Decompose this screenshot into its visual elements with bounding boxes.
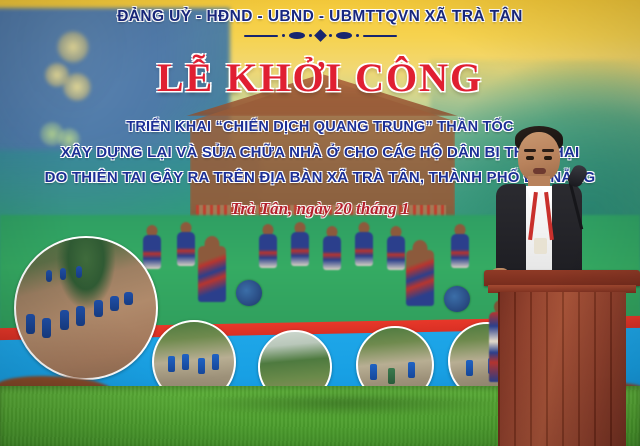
photo-figure xyxy=(42,318,51,338)
podium-front-panel xyxy=(498,292,626,446)
photo-figure xyxy=(466,360,473,376)
photo-figure xyxy=(110,296,119,311)
photo-figure xyxy=(168,356,175,372)
speaker-eyebrow xyxy=(542,149,554,152)
photo-figure xyxy=(94,300,103,317)
photo-stage: ĐẢNG UỶ - HĐND - UBND - UBMTTQVN XÃ TRÀ … xyxy=(0,0,640,446)
speaker-vest xyxy=(496,184,526,280)
speaker-eye xyxy=(544,156,552,160)
dancer-body xyxy=(451,234,469,268)
speaker-mouth xyxy=(533,168,546,174)
divider-bar xyxy=(363,35,397,37)
photo-figure xyxy=(408,362,415,378)
wooden-podium xyxy=(484,270,640,446)
photo-figure xyxy=(26,314,35,334)
divider-dot xyxy=(282,34,285,37)
speaker-head xyxy=(518,132,560,182)
dancer-body xyxy=(355,232,373,266)
speaker-vest xyxy=(552,184,582,280)
divider-diamond xyxy=(314,29,327,42)
photo-figure xyxy=(124,292,133,305)
photo-figure xyxy=(198,358,205,374)
podium-top-surface xyxy=(484,270,640,286)
podium-floor-shadow xyxy=(180,390,510,416)
dancer-gong xyxy=(444,286,470,312)
speaker-eyebrow xyxy=(524,149,536,152)
dancer-body xyxy=(177,232,195,266)
photo-figure xyxy=(46,270,52,282)
photo-figure xyxy=(60,310,69,330)
divider-dot xyxy=(309,34,312,37)
speaker-name-badge xyxy=(534,238,547,254)
dancer-gong xyxy=(236,280,262,306)
dancer-body xyxy=(259,234,277,268)
divider-dot xyxy=(329,34,332,37)
photo-figure xyxy=(76,266,82,278)
dancer-body xyxy=(406,250,434,306)
banner-main-title: LỄ KHỞI CÔNG xyxy=(0,54,640,101)
ornamental-divider xyxy=(0,31,640,40)
divider-dot xyxy=(356,34,359,37)
banner-organization-line: ĐẢNG UỶ - HĐND - UBND - UBMTTQVN XÃ TRÀ … xyxy=(0,8,640,26)
dancer-body xyxy=(323,236,341,270)
photo-figure xyxy=(388,368,395,384)
dancer-body xyxy=(291,232,309,266)
photo-figure xyxy=(182,354,189,370)
divider-lens xyxy=(289,32,305,39)
photo-figure xyxy=(60,268,66,280)
dancer-body xyxy=(143,235,161,269)
photo-figure xyxy=(212,354,219,370)
divider-lens xyxy=(336,32,352,39)
divider-bar xyxy=(244,35,278,37)
dancer-body xyxy=(198,246,226,302)
speaker-eye xyxy=(526,156,534,160)
photo-figure xyxy=(370,364,377,380)
podium-speaker xyxy=(478,118,640,446)
photo-circle-mud-road xyxy=(14,236,158,380)
dancer-body xyxy=(387,236,405,270)
photo-figure xyxy=(76,306,85,326)
